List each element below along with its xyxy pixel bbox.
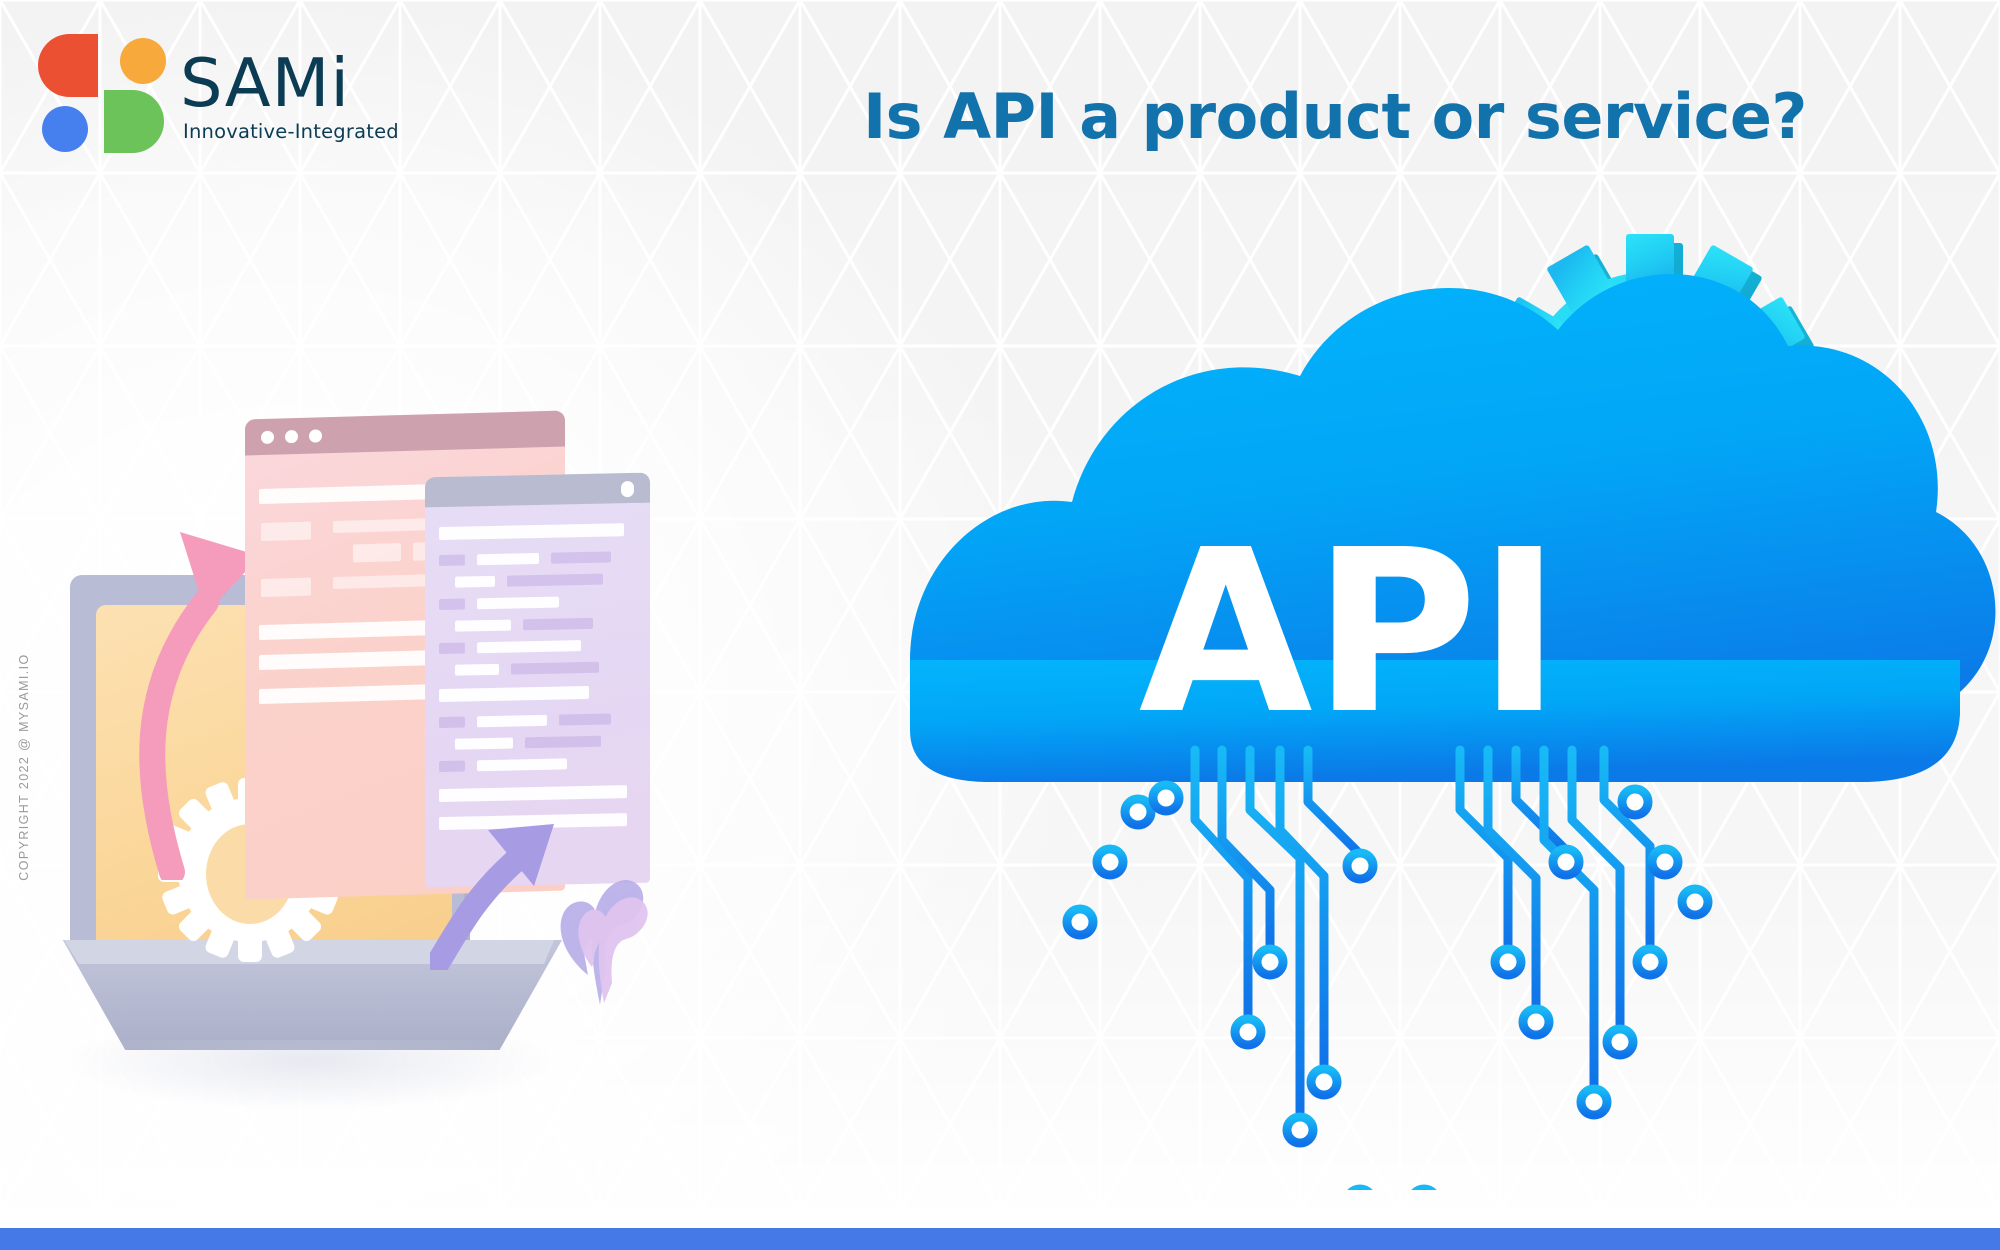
copyright-text: COPYRIGHT 2022 @ MYSAMI.IO bbox=[17, 647, 31, 887]
content-line bbox=[261, 578, 311, 597]
logo-tagline: Innovative-Integrated bbox=[183, 120, 399, 143]
logo-shape-red bbox=[38, 34, 98, 97]
code-line bbox=[455, 620, 511, 632]
code-line bbox=[455, 738, 513, 750]
footer-accent-bar bbox=[0, 1228, 2000, 1250]
logo-brand-name: SAMi bbox=[180, 52, 399, 116]
code-line bbox=[439, 555, 465, 567]
coral-plant-decoration bbox=[530, 825, 680, 1005]
code-line bbox=[455, 576, 495, 588]
code-line bbox=[439, 599, 465, 611]
content-line bbox=[261, 522, 311, 541]
code-line bbox=[477, 597, 559, 610]
code-line bbox=[439, 643, 465, 655]
content-line bbox=[353, 543, 401, 562]
logo-shape-blue-circle bbox=[42, 106, 88, 152]
code-line bbox=[477, 715, 547, 727]
logo-wordmark: SAMi Innovative-Integrated bbox=[180, 52, 399, 143]
poster-canvas: COPYRIGHT 2022 @ MYSAMI.IO SAMi Innovati… bbox=[0, 0, 2000, 1250]
code-line bbox=[439, 686, 589, 702]
code-line bbox=[455, 664, 499, 676]
code-line bbox=[439, 523, 624, 540]
logo-mark-icon bbox=[36, 30, 166, 148]
code-line bbox=[525, 736, 601, 749]
cloud-api-label: API bbox=[1139, 502, 1562, 764]
logo-shape-orange-circle bbox=[120, 38, 166, 84]
code-line bbox=[477, 640, 581, 653]
laptop-shadow bbox=[70, 1040, 550, 1110]
code-line bbox=[511, 662, 599, 675]
code-line bbox=[559, 713, 611, 725]
circuit-traces bbox=[1080, 750, 1695, 1190]
code-line bbox=[477, 553, 539, 565]
developer-illustration bbox=[50, 500, 690, 950]
code-line bbox=[477, 758, 567, 771]
window-dot-icon bbox=[309, 429, 322, 442]
logo-shape-green bbox=[104, 90, 164, 153]
window-dot-icon bbox=[285, 430, 298, 443]
api-cloud-graphic: API bbox=[660, 190, 2000, 1190]
page-title: Is API a product or service? bbox=[700, 84, 1970, 149]
window-titlebar-pink bbox=[245, 411, 565, 456]
window-dot-icon bbox=[261, 431, 274, 444]
window-titlebar-purple bbox=[425, 473, 650, 508]
code-line bbox=[439, 717, 465, 729]
brand-logo[interactable]: SAMi Innovative-Integrated bbox=[36, 30, 456, 155]
code-line bbox=[551, 551, 611, 563]
code-line bbox=[507, 574, 603, 587]
camera-icon bbox=[621, 481, 634, 497]
code-line bbox=[523, 618, 593, 630]
code-line bbox=[439, 761, 465, 773]
